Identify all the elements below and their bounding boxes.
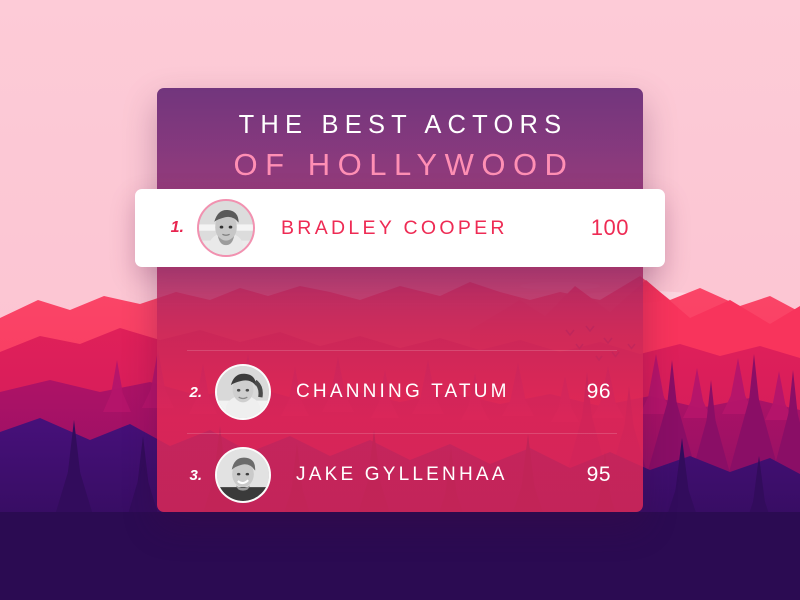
rank-number: 3. xyxy=(157,467,205,484)
rank-number: 2. xyxy=(157,384,205,401)
page-title-line2: OF HOLLYWOOD xyxy=(157,145,643,185)
actor-name: BRADLEY COOPER xyxy=(281,217,508,240)
rank-number: 1. xyxy=(135,219,187,237)
avatar[interactable] xyxy=(197,199,255,257)
ground-base xyxy=(0,512,800,600)
page-title-line1: THE BEST ACTORS xyxy=(157,110,643,142)
ranking-row-3[interactable]: 3. JAKE GYLLENHAA 95 xyxy=(157,433,643,512)
ranking-row-1-highlighted[interactable]: 1. BRADLEY COOPER 100 xyxy=(135,189,665,267)
card-header: THE BEST ACTORS OF HOLLYWOOD xyxy=(157,88,643,185)
ranking-card: THE BEST ACTORS OF HOLLYWOOD 2. xyxy=(157,88,643,512)
actor-score: 95 xyxy=(587,463,611,487)
actor-score: 100 xyxy=(591,215,629,241)
actor-name: CHANNING TATUM xyxy=(296,381,510,403)
ranking-row-2[interactable]: 2. CHANNING TATUM 96 xyxy=(157,350,643,434)
actor-name: JAKE GYLLENHAA xyxy=(296,464,508,486)
actor-score: 96 xyxy=(587,380,611,404)
avatar[interactable] xyxy=(215,447,271,503)
avatar[interactable] xyxy=(215,364,271,420)
